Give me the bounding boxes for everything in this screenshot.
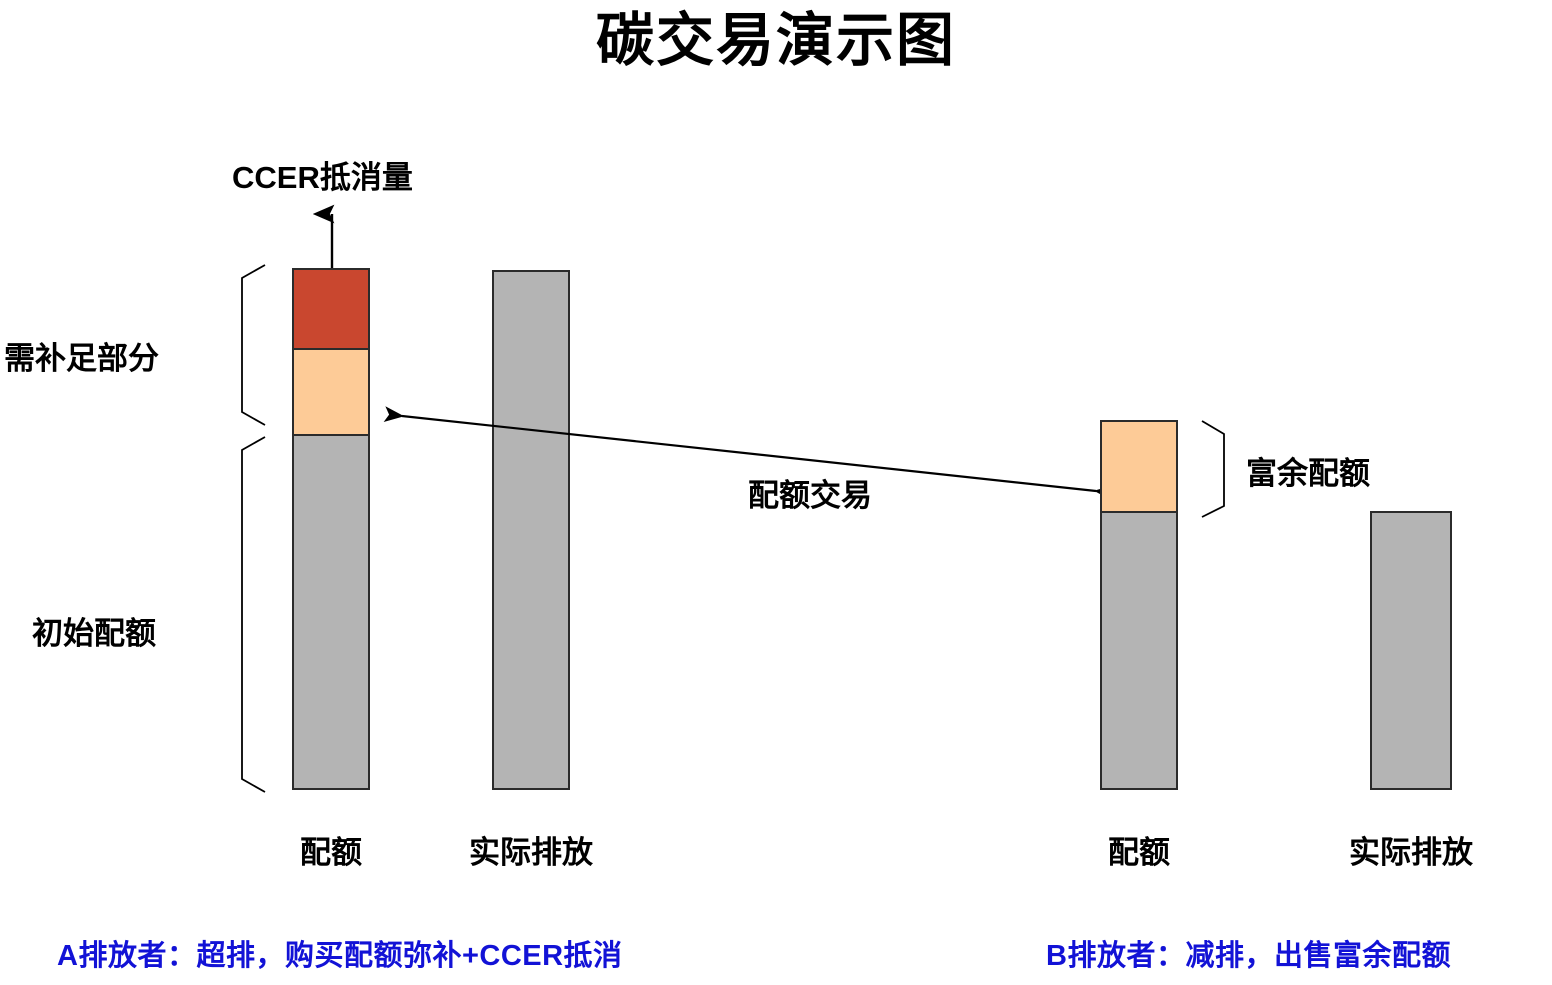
surplus-allowance-label: 富余配额 (1246, 448, 1370, 493)
allowance-trade-label: 配额交易 (748, 470, 872, 515)
ccer-up-arrow-icon (310, 205, 360, 275)
emitter-a-caption: A排放者：超排，购买配额弥补+CCER抵消 (57, 932, 623, 974)
surplus-allowance-brace-icon (1200, 416, 1240, 520)
bar-a-allowance-caption: 配额 (232, 827, 430, 872)
bar-b-emission (1370, 511, 1452, 790)
bar-segment-shortfall (294, 350, 368, 436)
emitter-b-caption: B排放者：减排，出售富余配额 (1046, 932, 1451, 974)
bar-a-emission (492, 270, 570, 790)
shortfall-label: 需补足部分 (4, 333, 159, 378)
bar-b-emission-caption: 实际排放 (1312, 827, 1510, 872)
page-title: 碳交易演示图 (0, 6, 1552, 76)
initial-allowance-brace-icon (200, 432, 270, 798)
bar-segment-initial-allowance (294, 436, 368, 788)
bar-segment-b-initial-allowance (1102, 513, 1176, 788)
bar-a-allowance (292, 268, 370, 790)
bar-a-emission-caption: 实际排放 (432, 827, 630, 872)
bar-b-allowance-caption: 配额 (1040, 827, 1238, 872)
initial-allowance-label: 初始配额 (32, 608, 156, 653)
diagram-canvas: 碳交易演示图 CCER抵消量 需补足部分 初始配额 配额 实际排放 (0, 0, 1552, 985)
ccer-offset-label: CCER抵消量 (232, 152, 413, 197)
bar-segment-ccer-offset (294, 270, 368, 350)
shortfall-brace-icon (200, 260, 270, 430)
bar-segment-surplus-allowance (1102, 422, 1176, 513)
bar-b-allowance (1100, 420, 1178, 790)
